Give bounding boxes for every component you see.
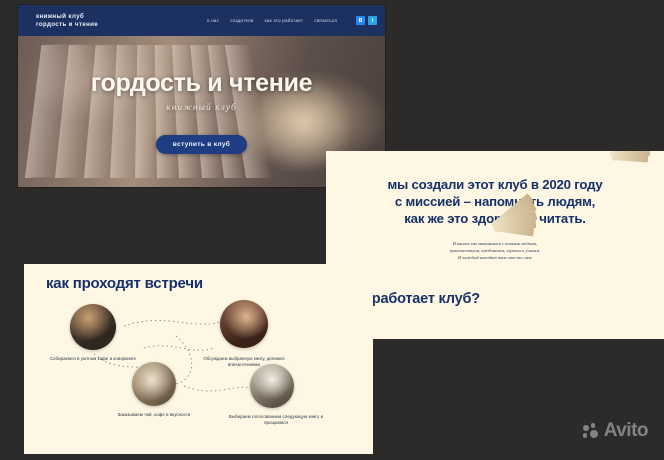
step-caption-3: Заказываем чай, кофе и вкусности <box>106 412 202 418</box>
nav-item-creators[interactable]: создатели <box>230 18 254 23</box>
logo-line-2: гордость и чтение <box>36 21 98 29</box>
site-navigation-bar: книжный клуб гордость и чтение о нас соз… <box>18 5 385 36</box>
logo-line-1: книжный клуб <box>36 13 98 21</box>
mission-heading-line-1: мы создали этот клуб в 2020 году <box>344 177 646 194</box>
step-caption-4: Выбираем голосованием следующую книгу и … <box>224 414 328 427</box>
mission-heading-line-3: как же это здорово – читать. <box>344 211 646 228</box>
tea-coffee-photo <box>132 362 176 406</box>
avito-logo-icon <box>583 423 599 439</box>
vk-icon[interactable]: B <box>356 16 365 25</box>
hero-banner: гордость и чтение книжный клуб вступить … <box>18 36 385 187</box>
next-book-vote-photo <box>250 364 294 408</box>
how-it-works-panel: как работает клуб? <box>326 279 664 339</box>
social-links: B t <box>356 16 377 25</box>
step-caption-2: Обсуждаем выбранную книгу, делимся впеча… <box>196 356 292 369</box>
book-discussion-photo <box>220 300 268 348</box>
step-caption-1: Собираемся в уютном кафе и коворкинге <box>45 356 141 362</box>
nav-item-how-it-works[interactable]: как это работает <box>265 18 304 23</box>
hero-website-panel: книжный клуб гордость и чтение о нас соз… <box>18 5 385 187</box>
meetings-panel: как проходят встречи Собираемся в уютном… <box>24 264 373 454</box>
mission-paragraph-line-3: И каждый находит там что-то свое <box>366 254 624 261</box>
nav-item-contact[interactable]: связаться <box>314 18 337 23</box>
mission-paragraph-line-2: путешествуем, влюбляемся, горюем и учимс… <box>366 247 624 254</box>
nav-item-about[interactable]: о нас <box>207 18 219 23</box>
avito-watermark: Avito <box>583 420 648 442</box>
how-it-works-heading: как работает клуб? <box>326 279 664 307</box>
mission-heading-line-2: с миссией – напомнить людям, <box>344 194 646 211</box>
twitter-icon[interactable]: t <box>368 16 377 25</box>
site-logo[interactable]: книжный клуб гордость и чтение <box>36 13 98 29</box>
hero-subtitle: книжный клуб <box>166 103 237 113</box>
mission-paragraph: В книгах мы знакомимся с новыми людьми, … <box>326 240 664 261</box>
avito-watermark-text: Avito <box>604 420 648 442</box>
cafe-meeting-photo <box>70 304 116 350</box>
mission-paragraph-line-1: В книгах мы знакомимся с новыми людьми, <box>366 240 624 247</box>
hero-title: гордость и чтение <box>91 69 313 98</box>
join-club-button[interactable]: вступить в клуб <box>156 135 247 154</box>
nav-links: о нас создатели как это работает связать… <box>207 16 377 25</box>
